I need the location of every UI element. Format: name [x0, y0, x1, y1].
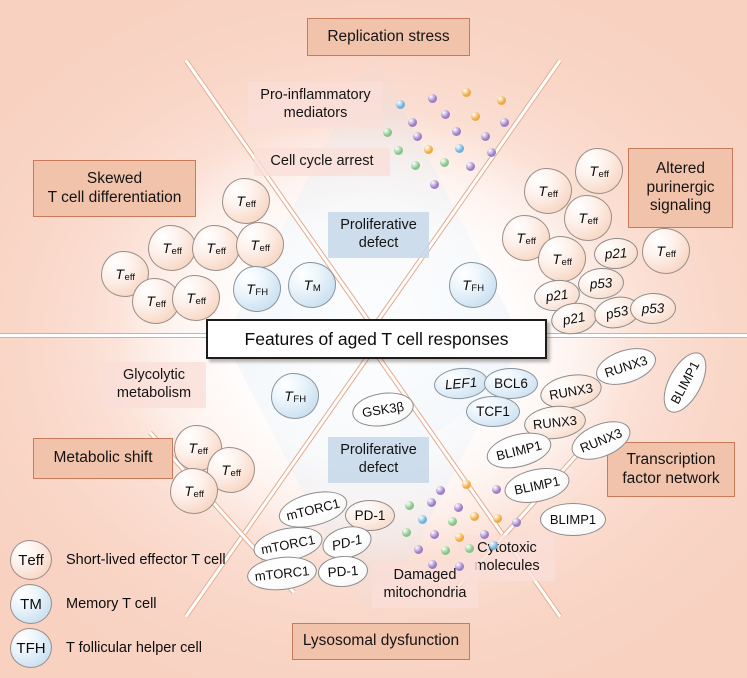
cell-label-main: T	[656, 243, 665, 259]
cell-label-subscript: eff	[525, 236, 536, 247]
center-banner: Features of aged T cell responses	[206, 319, 547, 359]
molecule-dot-blue	[489, 541, 498, 550]
molecule-dot-purple	[466, 162, 475, 171]
cell-label-main: T	[221, 462, 230, 478]
cell-label-subscript: eff	[587, 216, 598, 227]
legend-tm-swatch: TM	[10, 584, 52, 624]
cell-label-main: T	[186, 290, 195, 306]
molecule-dot-purple	[455, 562, 464, 571]
legend-teff-swatch: Teff	[10, 540, 52, 580]
cell-label-subscript: eff	[193, 489, 204, 500]
cell-label-main: T	[236, 193, 245, 209]
label-proliferative-defect-top: Proliferative defect	[328, 212, 429, 258]
cell-label-main: T	[184, 483, 193, 499]
cell-tm-tl: TM	[288, 262, 336, 308]
cell-eff-tr-6: Teff	[642, 228, 690, 274]
cell-label-main: T	[578, 210, 587, 226]
cell-tfh-tc: TFH	[449, 262, 497, 308]
molecule-dot-purple	[454, 503, 463, 512]
molecule-dot-orange	[493, 514, 502, 523]
cell-label-main: T	[206, 240, 215, 256]
cell-label-main: T	[538, 183, 547, 199]
cell-label-subscript: eff	[197, 446, 208, 457]
legend-tfh-swatch: TFH	[10, 628, 52, 668]
cell-label-subscript: eff	[561, 257, 572, 268]
molecule-dot-green	[394, 146, 403, 155]
molecule-dot-orange	[470, 512, 479, 521]
molecule-dot-blue	[455, 144, 464, 153]
cell-label-main: T	[246, 281, 255, 297]
cell-label-main: T	[250, 237, 259, 253]
cell-label-subscript: eff	[155, 299, 166, 310]
molecule-dot-purple	[430, 530, 439, 539]
molecule-dot-green	[440, 158, 449, 167]
legend-swatch-subscript: M	[29, 596, 42, 613]
molecule-dot-orange	[462, 88, 471, 97]
cell-label-subscript: FH	[255, 287, 268, 298]
legend-swatch-main: T	[16, 640, 25, 657]
molecule-bcl6: BCL6	[484, 368, 538, 399]
molecule-dot-green	[411, 161, 420, 170]
cell-label-subscript: eff	[230, 468, 241, 479]
cell-tfh-tl: TFH	[233, 266, 281, 312]
cell-label-subscript: eff	[665, 249, 676, 260]
cell-label-main: T	[115, 266, 124, 282]
cell-eff-tl-1: Teff	[222, 178, 270, 224]
molecule-dot-purple	[428, 560, 437, 569]
cell-label-subscript: eff	[124, 272, 135, 283]
molecule-dot-orange	[462, 480, 471, 489]
legend-swatch-main: T	[18, 552, 27, 569]
molecule-dot-purple	[441, 110, 450, 119]
legend-row-legend-teff: TeffShort-lived effector T cell	[10, 540, 226, 580]
cell-eff-bl-3: Teff	[170, 468, 218, 514]
section-transcription-factor-network[interactable]: Transcription factor network	[607, 442, 735, 497]
cell-eff-tl-3: Teff	[192, 225, 240, 271]
molecule-dot-purple	[430, 180, 439, 189]
label-glycolytic-metabolism: Glycolytic metabolism	[102, 362, 206, 408]
cell-label-subscript: eff	[598, 169, 609, 180]
molecule-dot-purple	[481, 132, 490, 141]
molecule-dot-green	[383, 128, 392, 137]
section-metabolic-shift[interactable]: Metabolic shift	[33, 438, 173, 479]
label-proliferative-defect-bottom: Proliferative defect	[328, 437, 429, 483]
cell-label-subscript: eff	[195, 296, 206, 307]
cell-label-subscript: eff	[547, 189, 558, 200]
molecule-dot-purple	[492, 485, 501, 494]
molecule-dot-orange	[471, 112, 480, 121]
molecule-dot-green	[465, 544, 474, 553]
molecule-dot-purple	[428, 94, 437, 103]
section-altered-purinergic-signaling[interactable]: Altered purinergic signaling	[628, 148, 733, 228]
section-lysosomal-dysfunction[interactable]: Lysosomal dysfunction	[292, 623, 470, 660]
molecule-dot-green	[441, 546, 450, 555]
legend-row-legend-tm: TMMemory T cell	[10, 584, 157, 624]
molecule-dot-orange	[455, 533, 464, 542]
molecule-dot-purple	[408, 118, 417, 127]
section-replication-stress[interactable]: Replication stress	[307, 18, 470, 56]
molecule-dot-purple	[480, 530, 489, 539]
cell-label-main: T	[162, 240, 171, 256]
legend-swatch-subscript: eff	[27, 552, 43, 569]
cell-label-subscript: FH	[471, 283, 484, 294]
legend-tm-text: Memory T cell	[66, 596, 157, 612]
cell-label-main: T	[516, 230, 525, 246]
molecule-dot-purple	[414, 545, 423, 554]
cell-eff-tl-2: Teff	[148, 225, 196, 271]
cell-label-subscript: eff	[171, 246, 182, 257]
cell-label-subscript: eff	[259, 243, 270, 254]
molecule-dot-orange	[497, 96, 506, 105]
cell-eff-tr-5: Teff	[538, 236, 586, 282]
molecule-dot-purple	[452, 127, 461, 136]
molecule-dot-green	[402, 528, 411, 537]
cell-label-main: T	[462, 277, 471, 293]
legend-row-legend-tfh: TFHT follicular helper cell	[10, 628, 202, 668]
label-cell-cycle-arrest: Cell cycle arrest	[254, 148, 390, 176]
molecule-dot-blue	[418, 515, 427, 524]
cell-eff-tl-7: Teff	[172, 275, 220, 321]
molecule-dot-green	[405, 501, 414, 510]
molecule-dot-purple	[413, 132, 422, 141]
molecule-dot-purple	[436, 486, 445, 495]
molecule-dot-green	[448, 517, 457, 526]
cell-label-subscript: FH	[293, 394, 306, 405]
molecule-tcf1: TCF1	[466, 396, 520, 427]
cell-label-main: T	[188, 440, 197, 456]
cell-label-main: T	[552, 251, 561, 267]
molecule-dot-purple	[487, 148, 496, 157]
cell-eff-tr-1: Teff	[575, 148, 623, 194]
molecule-dot-purple	[500, 118, 509, 127]
legend-tfh-text: T follicular helper cell	[66, 640, 202, 656]
molecule-blimp1-4: BLIMP1	[540, 503, 606, 536]
cell-tfh-bl: TFH	[271, 373, 319, 419]
section-skewed-t-cell-differentiation[interactable]: Skewed T cell differentiation	[33, 160, 196, 217]
aged-t-cell-responses-figure: Pro-inflammatory mediators Cell cycle ar…	[0, 0, 747, 678]
molecule-dot-purple	[512, 518, 521, 527]
cell-label-subscript: M	[313, 283, 321, 294]
legend-swatch-subscript: FH	[26, 640, 46, 657]
molecule-dot-blue	[396, 100, 405, 109]
cell-label-main: T	[146, 293, 155, 309]
cell-eff-tr-3: Teff	[564, 195, 612, 241]
molecule-dot-purple	[427, 498, 436, 507]
cell-label-main: T	[589, 163, 598, 179]
cell-label-subscript: eff	[215, 246, 226, 257]
cell-label-main: T	[284, 388, 293, 404]
legend-swatch-main: T	[20, 596, 29, 613]
cell-label-main: T	[304, 277, 313, 293]
molecule-dot-orange	[424, 145, 433, 154]
legend-teff-text: Short-lived effector T cell	[66, 552, 226, 568]
cell-eff-tr-2: Teff	[524, 168, 572, 214]
cell-eff-tl-4: Teff	[236, 222, 284, 268]
cell-label-subscript: eff	[245, 199, 256, 210]
label-pro-inflammatory-mediators: Pro-inflammatory mediators	[248, 82, 383, 128]
